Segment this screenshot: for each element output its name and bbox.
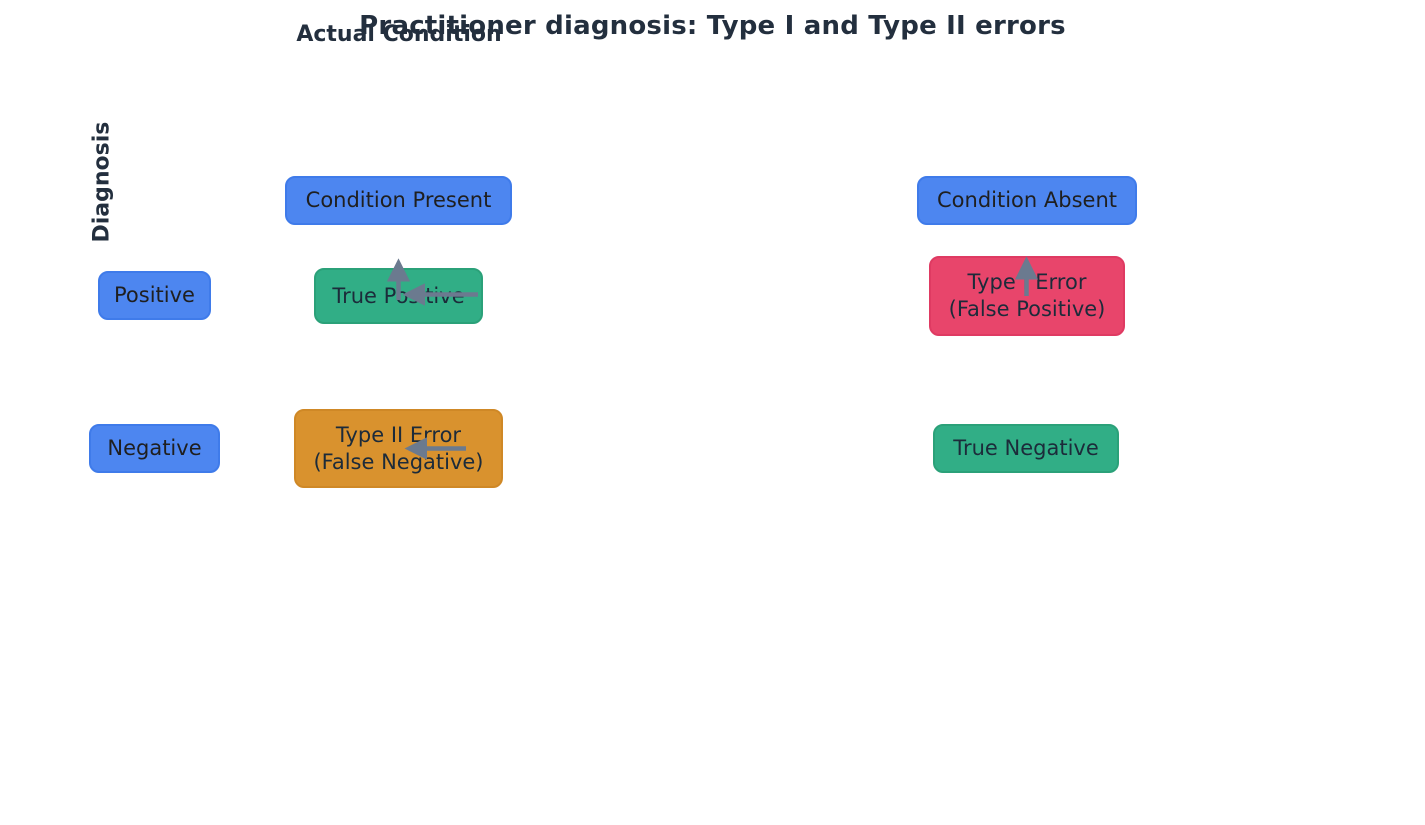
row-header-negative[interactable]: Negative <box>89 424 220 473</box>
cell-true-negative[interactable]: True Negative <box>933 424 1119 473</box>
arrow-overlay <box>0 0 1425 825</box>
cell-true-positive[interactable]: True Positive <box>314 268 483 324</box>
row-group-label: Diagnosis <box>90 53 115 243</box>
column-group-label: Actual Condition <box>288 22 510 47</box>
diagram-canvas: Practitioner diagnosis: Type I and Type … <box>0 0 1425 825</box>
column-header-condition-absent[interactable]: Condition Absent <box>917 176 1137 225</box>
row-header-positive[interactable]: Positive <box>98 271 211 320</box>
column-header-condition-present[interactable]: Condition Present <box>285 176 512 225</box>
page-title: Practitioner diagnosis: Type I and Type … <box>0 11 1425 41</box>
cell-type-ii-error[interactable]: Type II Error (False Negative) <box>294 409 503 488</box>
cell-type-i-error[interactable]: Type I Error (False Positive) <box>929 256 1125 336</box>
